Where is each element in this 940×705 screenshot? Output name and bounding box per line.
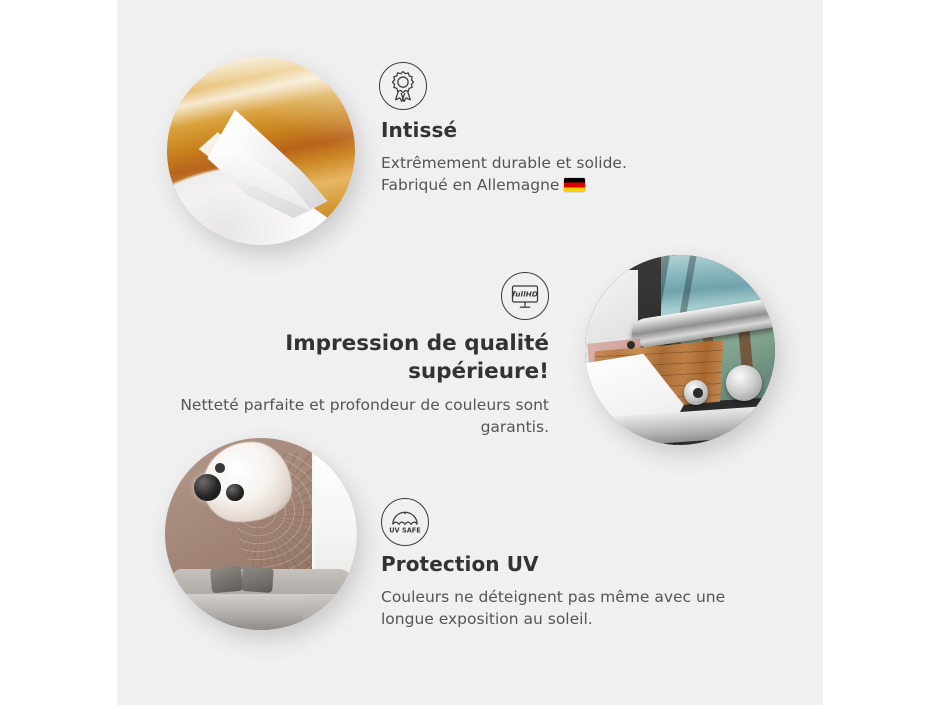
content-panel: Intissé Extrêmement durable et solide. F…	[117, 0, 823, 705]
uv-body-line-1: Couleurs ne déteignent pas même avec une	[381, 588, 725, 606]
quality-body: Netteté parfaite et profondeur de couleu…	[177, 394, 549, 438]
printing-press-photo	[585, 255, 775, 445]
fullhd-label: fullHD	[512, 290, 538, 299]
room-mural-hole-medium	[226, 484, 243, 501]
uv-body-line-2: longue exposition au soleil.	[381, 610, 593, 628]
fullhd-monitor-icon: fullHD	[501, 272, 549, 320]
room-cushion-left	[210, 565, 243, 593]
room-ottoman	[303, 595, 353, 628]
press-knob	[693, 388, 703, 398]
product-feature-graphic: Intissé Extrêmement durable et solide. F…	[0, 0, 940, 705]
intisse-text-block: Intissé Extrêmement durable et solide. F…	[381, 118, 711, 196]
press-disc-large	[726, 365, 762, 401]
room-window-bar	[352, 500, 357, 503]
room-mural-hole-large	[194, 474, 221, 501]
uv-body: Couleurs ne déteignent pas même avec une…	[381, 586, 731, 630]
room-cushion-right	[241, 566, 273, 593]
uv-text-block: Protection UV Couleurs ne déteignent pas…	[381, 552, 731, 630]
quality-body-line-1: Netteté parfaite et profondeur de couleu…	[180, 396, 549, 414]
quality-body-line-2: garantis.	[481, 418, 549, 436]
intisse-body-line-1: Extrêmement durable et solide.	[381, 154, 627, 172]
living-room-mural-photo	[165, 438, 357, 630]
quality-heading: Impression de qualité supérieure!	[177, 330, 549, 386]
quality-text-block: Impression de qualité supérieure! Nettet…	[177, 330, 549, 438]
intisse-heading: Intissé	[381, 118, 711, 143]
wallpaper-shading	[167, 57, 355, 245]
peeling-wallpaper-photo	[167, 57, 355, 245]
uv-safe-label: UV SAFE	[389, 527, 421, 535]
award-ribbon-icon	[379, 62, 427, 110]
room-mural-hole-small	[215, 463, 225, 473]
german-flag-icon	[564, 178, 585, 192]
intisse-body: Extrêmement durable et solide. Fabriqué …	[381, 152, 711, 196]
intisse-body-line-2: Fabriqué en Allemagne	[381, 176, 559, 194]
uv-safe-umbrella-icon: UV SAFE	[381, 498, 429, 546]
uv-heading: Protection UV	[381, 552, 731, 577]
